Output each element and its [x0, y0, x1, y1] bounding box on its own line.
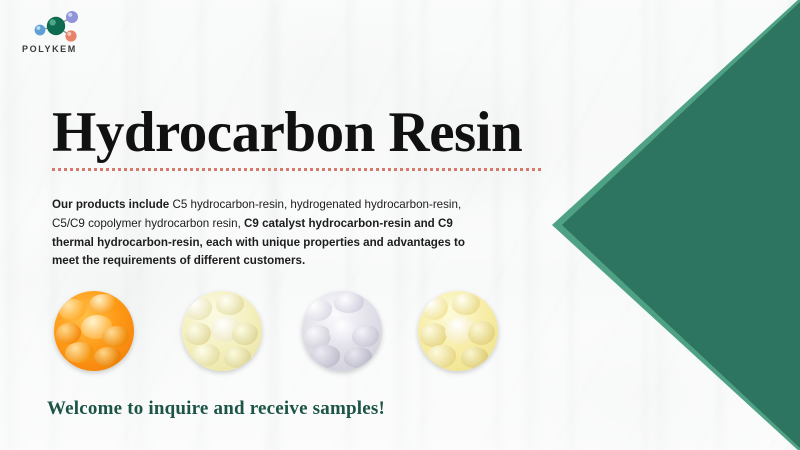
hero-body-text: Our products include C5 hydrocarbon-resi…	[52, 196, 492, 271]
yellow-resin-sample	[418, 291, 498, 371]
welcome-message: Welcome to inquire and receive samples!	[47, 398, 385, 420]
orange-resin-sample	[54, 291, 134, 371]
product-circle-orange	[54, 291, 134, 371]
white-resin-sample	[302, 291, 382, 371]
product-circle-yellow	[418, 291, 498, 371]
title-dotted-rule	[52, 168, 542, 171]
brand-wordmark: POLYKEM	[22, 44, 77, 54]
brand-logo: POLYKEM	[20, 8, 104, 60]
product-sample-row	[54, 291, 524, 371]
molecule-logo-icon	[20, 8, 104, 44]
product-circle-cream	[182, 291, 262, 371]
cream-resin-sample	[182, 291, 262, 371]
page-title: Hydrocarbon Resin	[52, 104, 522, 162]
product-circle-white	[302, 291, 382, 371]
body-bold-lead: Our products include	[52, 198, 169, 211]
slide-canvas: POLYKEM Hydrocarbon Resin Our products i…	[0, 0, 800, 450]
